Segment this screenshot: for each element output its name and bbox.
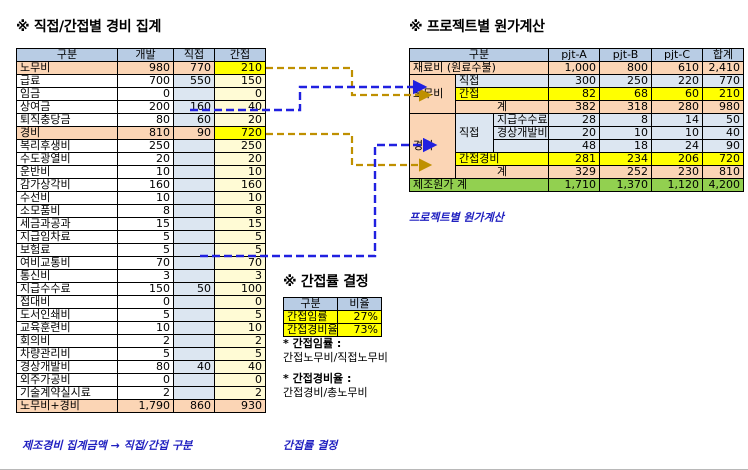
row-label-direct: 직접 bbox=[456, 75, 549, 88]
cell-direct bbox=[174, 257, 215, 270]
cell-total: 210 bbox=[703, 88, 744, 101]
cell-dev: 5 bbox=[118, 244, 174, 257]
row-label: 지급임차료 bbox=[17, 231, 118, 244]
cell-total: 4,200 bbox=[703, 179, 744, 192]
cell-pjt-c: 24 bbox=[652, 140, 703, 153]
cell-dev: 250 bbox=[118, 140, 174, 153]
section-title-project-costing: ※ 프로젝트별 원가계산 bbox=[409, 16, 545, 36]
col-header-indirect: 간접 bbox=[215, 49, 266, 62]
table-row[interactable]: 지급임차료55 bbox=[17, 231, 266, 244]
row-group-labor: 노무비 bbox=[410, 75, 456, 114]
cell-direct: 90 bbox=[174, 127, 215, 140]
table-row[interactable]: 접대비00 bbox=[17, 296, 266, 309]
cell-indirect: 0 bbox=[215, 374, 266, 387]
cell-dev: 0 bbox=[118, 374, 174, 387]
cell-direct: 40 bbox=[174, 361, 215, 374]
table-row[interactable]: 계 329 252 230 810 bbox=[410, 166, 744, 179]
cell-pjt-a: 28 bbox=[549, 114, 600, 127]
row-label-direct: 직접 bbox=[456, 114, 494, 153]
cell-direct: 770 bbox=[174, 62, 215, 75]
cell-indirect: 250 bbox=[215, 140, 266, 153]
table-row[interactable]: 계 382 318 280 980 bbox=[410, 101, 744, 114]
row-label-manufacturing-cost: 제조원가 계 bbox=[410, 179, 549, 192]
cell-indirect: 10 bbox=[215, 322, 266, 335]
cell-total: 770 bbox=[703, 75, 744, 88]
table-row[interactable]: 간접경비율 73% bbox=[284, 324, 382, 337]
table-row[interactable]: 경비 810 90 720 bbox=[17, 127, 266, 140]
cell-dev: 80 bbox=[118, 361, 174, 374]
table-header-row: 구분 비율 bbox=[284, 298, 382, 311]
cell-indirect: 5 bbox=[215, 231, 266, 244]
row-group-expense: 경비 bbox=[410, 114, 456, 179]
cell-direct bbox=[174, 322, 215, 335]
row-label: 외주가공비 bbox=[17, 374, 118, 387]
cell-dev: 10 bbox=[118, 192, 174, 205]
cell-indirect: 0 bbox=[215, 296, 266, 309]
col-header-pjt-c: pjt-C bbox=[652, 49, 703, 62]
cell-dev: 5 bbox=[118, 231, 174, 244]
caption-project-costing: 프로젝트별 원가계산 bbox=[409, 209, 504, 225]
row-label-material: 재료비 (원료수불) bbox=[410, 62, 549, 75]
table-row[interactable]: 경비 직접 지급수수료 28 8 14 50 bbox=[410, 114, 744, 127]
row-label: 지급수수료 bbox=[17, 283, 118, 296]
cell-pjt-a: 48 bbox=[549, 140, 600, 153]
cell-indirect: 8 bbox=[215, 205, 266, 218]
cell-direct: 860 bbox=[174, 400, 215, 413]
row-label: 접대비 bbox=[17, 296, 118, 309]
connector-indirect-expense bbox=[266, 134, 430, 165]
cell-indirect: 40 bbox=[215, 101, 266, 114]
cell-pjt-b: 800 bbox=[600, 62, 652, 75]
cell-pjt-b: 8 bbox=[600, 114, 652, 127]
table-row[interactable]: 감가상각비160160 bbox=[17, 179, 266, 192]
spreadsheet-page: ※ 직접/간접별 경비 집계 ※ 프로젝트별 원가계산 ※ 간접률 결정 구분 … bbox=[0, 0, 748, 470]
note-indirect-expense-rate: * 간접경비율 : 간접경비/총노무비 bbox=[283, 372, 368, 400]
cell-indirect: 40 bbox=[215, 361, 266, 374]
cell-pjt-b: 234 bbox=[600, 153, 652, 166]
cell-total: 50 bbox=[703, 114, 744, 127]
cell-direct bbox=[174, 88, 215, 101]
cell-dev: 810 bbox=[118, 127, 174, 140]
cell-dev: 200 bbox=[118, 101, 174, 114]
cell-dev: 20 bbox=[118, 153, 174, 166]
table-row[interactable]: 재료비 (원료수불) 1,000 800 610 2,410 bbox=[410, 62, 744, 75]
caption-indirect-rate: 간접률 결정 bbox=[283, 437, 337, 453]
table-row[interactable]: 간접 82 68 60 210 bbox=[410, 88, 744, 101]
caption-expense-classification: 제조경비 집계금액 → 직접/간접 구분 bbox=[22, 437, 192, 453]
cell-direct bbox=[174, 205, 215, 218]
connector-indirect-labor bbox=[266, 68, 430, 95]
cell-indirect: 930 bbox=[215, 400, 266, 413]
table-row[interactable]: 운반비1010 bbox=[17, 166, 266, 179]
cell-indirect: 160 bbox=[215, 179, 266, 192]
row-label: 상여금 bbox=[17, 101, 118, 114]
row-label: 퇴직충당금 bbox=[17, 114, 118, 127]
cell-dev: 700 bbox=[118, 75, 174, 88]
cell-direct bbox=[174, 192, 215, 205]
cell-direct: 60 bbox=[174, 114, 215, 127]
table-row[interactable]: 세금과공과1515 bbox=[17, 218, 266, 231]
row-label: 여비교통비 bbox=[17, 257, 118, 270]
cell-direct: 50 bbox=[174, 283, 215, 296]
table-row[interactable]: 임금 0 0 bbox=[17, 88, 266, 101]
row-label: 감가상각비 bbox=[17, 179, 118, 192]
cell-dev: 5 bbox=[118, 309, 174, 322]
cell-direct: 550 bbox=[174, 75, 215, 88]
cell-dev: 10 bbox=[118, 322, 174, 335]
col-header-rate: 비율 bbox=[338, 298, 382, 311]
expense-aggregation-table[interactable]: 구분 개발 직접 간접 노무비 980 770 210 급료 700 550 1… bbox=[16, 48, 266, 413]
cell-dev: 3 bbox=[118, 270, 174, 283]
cell-pjt-c: 10 bbox=[652, 127, 703, 140]
cell-indirect-expense-rate: 73% bbox=[338, 324, 382, 337]
note-heading: * 간접임률 : bbox=[283, 337, 388, 351]
table-row[interactable]: 여비교통비7070 bbox=[17, 257, 266, 270]
cell-direct bbox=[174, 374, 215, 387]
row-label: 수선비 bbox=[17, 192, 118, 205]
cell-direct bbox=[174, 387, 215, 400]
cell-pjt-c: 610 bbox=[652, 62, 703, 75]
cell-pjt-b: 250 bbox=[600, 75, 652, 88]
cell-pjt-b: 18 bbox=[600, 140, 652, 153]
cell-direct bbox=[174, 270, 215, 283]
cell-dev: 70 bbox=[118, 257, 174, 270]
col-header-category: 구분 bbox=[410, 49, 549, 62]
col-header-category: 구분 bbox=[17, 49, 118, 62]
row-label: 차량관리비 bbox=[17, 348, 118, 361]
cell-pjt-a: 329 bbox=[549, 166, 600, 179]
cell-dev: 160 bbox=[118, 179, 174, 192]
table-row[interactable]: 도서인쇄비55 bbox=[17, 309, 266, 322]
cell-indirect: 0 bbox=[215, 88, 266, 101]
table-row[interactable]: 간접임률 27% bbox=[284, 311, 382, 324]
cell-indirect: 10 bbox=[215, 192, 266, 205]
section-title-indirect-rate: ※ 간접률 결정 bbox=[283, 271, 368, 291]
cell-pjt-a: 1,710 bbox=[549, 179, 600, 192]
cell-direct bbox=[174, 231, 215, 244]
cell-pjt-c: 280 bbox=[652, 101, 703, 114]
cell-indirect: 10 bbox=[215, 166, 266, 179]
row-label-indirect: 간접 bbox=[456, 88, 549, 101]
indirect-rate-table[interactable]: 구분 비율 간접임률 27% 간접경비율 73% bbox=[283, 297, 382, 337]
cell-pjt-a: 1,000 bbox=[549, 62, 600, 75]
cell-dev: 1,790 bbox=[118, 400, 174, 413]
table-row[interactable]: 상여금 200 160 40 bbox=[17, 101, 266, 114]
table-row[interactable]: 수선비1010 bbox=[17, 192, 266, 205]
cell-dev: 2 bbox=[118, 387, 174, 400]
project-costing-table[interactable]: 구분 pjt-A pjt-B pjt-C 합계 재료비 (원료수불) 1,000… bbox=[409, 48, 744, 192]
row-label: 임금 bbox=[17, 88, 118, 101]
table-row[interactable]: 회의비22 bbox=[17, 335, 266, 348]
row-label: 경상개발비 bbox=[17, 361, 118, 374]
row-label-indirect-wage-rate: 간접임률 bbox=[284, 311, 338, 324]
row-label-rnd: 경상개발비 bbox=[494, 127, 549, 140]
cell-direct bbox=[174, 309, 215, 322]
cell-pjt-a: 82 bbox=[549, 88, 600, 101]
col-header-pjt-b: pjt-B bbox=[600, 49, 652, 62]
cell-pjt-c: 60 bbox=[652, 88, 703, 101]
row-label-fee: 지급수수료 bbox=[494, 114, 549, 127]
col-header-category: 구분 bbox=[284, 298, 338, 311]
row-label-blank bbox=[494, 140, 549, 153]
cell-pjt-a: 382 bbox=[549, 101, 600, 114]
table-header-row: 구분 pjt-A pjt-B pjt-C 합계 bbox=[410, 49, 744, 62]
cell-pjt-b: 68 bbox=[600, 88, 652, 101]
cell-direct bbox=[174, 348, 215, 361]
row-label: 노무비+경비 bbox=[17, 400, 118, 413]
cell-pjt-c: 230 bbox=[652, 166, 703, 179]
cell-dev: 2 bbox=[118, 335, 174, 348]
table-total-row[interactable]: 노무비+경비 1,790 860 930 bbox=[17, 400, 266, 413]
row-label: 기술계약실시료 bbox=[17, 387, 118, 400]
cell-indirect: 5 bbox=[215, 244, 266, 257]
cell-pjt-c: 220 bbox=[652, 75, 703, 88]
cell-indirect: 210 bbox=[215, 62, 266, 75]
cell-total: 810 bbox=[703, 166, 744, 179]
cell-total: 980 bbox=[703, 101, 744, 114]
table-row[interactable]: 간접경비 281 234 206 720 bbox=[410, 153, 744, 166]
row-label: 운반비 bbox=[17, 166, 118, 179]
cell-direct bbox=[174, 244, 215, 257]
cell-indirect: 20 bbox=[215, 153, 266, 166]
cell-pjt-a: 300 bbox=[549, 75, 600, 88]
table-row[interactable]: 급료 700 550 150 bbox=[17, 75, 266, 88]
cell-dev: 150 bbox=[118, 283, 174, 296]
table-row[interactable]: 퇴직충당금 80 60 20 bbox=[17, 114, 266, 127]
row-label-indirect-expense: 간접경비 bbox=[456, 153, 549, 166]
col-header-pjt-a: pjt-A bbox=[549, 49, 600, 62]
row-label: 회의비 bbox=[17, 335, 118, 348]
row-label: 통신비 bbox=[17, 270, 118, 283]
row-label: 경비 bbox=[17, 127, 118, 140]
col-header-total: 합계 bbox=[703, 49, 744, 62]
cell-pjt-b: 1,370 bbox=[600, 179, 652, 192]
cell-pjt-b: 10 bbox=[600, 127, 652, 140]
row-label: 수도광열비 bbox=[17, 153, 118, 166]
cell-pjt-a: 20 bbox=[549, 127, 600, 140]
note-indirect-wage-rate: * 간접임률 : 간접노무비/직접노무비 bbox=[283, 337, 388, 365]
cell-direct bbox=[174, 153, 215, 166]
table-row[interactable]: 기술계약실시료22 bbox=[17, 387, 266, 400]
cell-dev: 10 bbox=[118, 166, 174, 179]
note-body: 간접경비/총노무비 bbox=[283, 386, 368, 400]
table-header-row: 구분 개발 직접 간접 bbox=[17, 49, 266, 62]
cell-pjt-a: 281 bbox=[549, 153, 600, 166]
row-label: 교육훈련비 bbox=[17, 322, 118, 335]
cell-dev: 15 bbox=[118, 218, 174, 231]
cell-pjt-b: 252 bbox=[600, 166, 652, 179]
cell-indirect: 2 bbox=[215, 335, 266, 348]
cell-indirect-wage-rate: 27% bbox=[338, 311, 382, 324]
cell-pjt-c: 14 bbox=[652, 114, 703, 127]
cell-indirect: 150 bbox=[215, 75, 266, 88]
cell-indirect: 5 bbox=[215, 348, 266, 361]
note-body: 간접노무비/직접노무비 bbox=[283, 351, 388, 365]
cell-dev: 5 bbox=[118, 348, 174, 361]
cell-pjt-c: 206 bbox=[652, 153, 703, 166]
cell-indirect: 2 bbox=[215, 387, 266, 400]
cell-direct bbox=[174, 335, 215, 348]
cell-pjt-c: 1,120 bbox=[652, 179, 703, 192]
col-header-direct: 직접 bbox=[174, 49, 215, 62]
table-row[interactable]: 차량관리비55 bbox=[17, 348, 266, 361]
cell-total: 90 bbox=[703, 140, 744, 153]
cell-total: 40 bbox=[703, 127, 744, 140]
cell-indirect: 70 bbox=[215, 257, 266, 270]
table-row[interactable]: 지급수수료15050100 bbox=[17, 283, 266, 296]
col-header-dev: 개발 bbox=[118, 49, 174, 62]
cell-dev: 8 bbox=[118, 205, 174, 218]
table-row[interactable]: 노무비 980 770 210 bbox=[17, 62, 266, 75]
cell-dev: 0 bbox=[118, 88, 174, 101]
row-label: 도서인쇄비 bbox=[17, 309, 118, 322]
table-row[interactable]: 복리후생비250250 bbox=[17, 140, 266, 153]
cell-direct bbox=[174, 296, 215, 309]
cell-total: 2,410 bbox=[703, 62, 744, 75]
cell-direct bbox=[174, 179, 215, 192]
cell-indirect: 5 bbox=[215, 309, 266, 322]
cell-direct bbox=[174, 218, 215, 231]
table-row[interactable]: 교육훈련비1010 bbox=[17, 322, 266, 335]
note-heading: * 간접경비율 : bbox=[283, 372, 368, 386]
cell-indirect: 100 bbox=[215, 283, 266, 296]
row-label: 노무비 bbox=[17, 62, 118, 75]
row-label-indirect-expense-rate: 간접경비율 bbox=[284, 324, 338, 337]
cell-indirect: 15 bbox=[215, 218, 266, 231]
row-label: 소모품비 bbox=[17, 205, 118, 218]
table-row[interactable]: 소모품비88 bbox=[17, 205, 266, 218]
row-label: 급료 bbox=[17, 75, 118, 88]
row-label: 보험료 bbox=[17, 244, 118, 257]
cell-total: 720 bbox=[703, 153, 744, 166]
cell-dev: 0 bbox=[118, 296, 174, 309]
table-total-row[interactable]: 제조원가 계 1,710 1,370 1,120 4,200 bbox=[410, 179, 744, 192]
table-row[interactable]: 외주가공비00 bbox=[17, 374, 266, 387]
cell-direct bbox=[174, 166, 215, 179]
table-row[interactable]: 수도광열비2020 bbox=[17, 153, 266, 166]
cell-indirect: 720 bbox=[215, 127, 266, 140]
table-row[interactable]: 노무비 직접 300 250 220 770 bbox=[410, 75, 744, 88]
cell-indirect: 20 bbox=[215, 114, 266, 127]
cell-dev: 80 bbox=[118, 114, 174, 127]
table-row[interactable]: 보험료55 bbox=[17, 244, 266, 257]
table-row[interactable]: 통신비33 bbox=[17, 270, 266, 283]
row-label: 세금과공과 bbox=[17, 218, 118, 231]
cell-direct: 160 bbox=[174, 101, 215, 114]
row-label: 복리후생비 bbox=[17, 140, 118, 153]
row-label-subtotal: 계 bbox=[456, 166, 549, 179]
row-label-subtotal: 계 bbox=[456, 101, 549, 114]
cell-direct bbox=[174, 140, 215, 153]
table-row[interactable]: 경상개발비804040 bbox=[17, 361, 266, 374]
cell-dev: 980 bbox=[118, 62, 174, 75]
cell-indirect: 3 bbox=[215, 270, 266, 283]
cell-pjt-b: 318 bbox=[600, 101, 652, 114]
section-title-expense-aggregation: ※ 직접/간접별 경비 집계 bbox=[16, 16, 161, 36]
